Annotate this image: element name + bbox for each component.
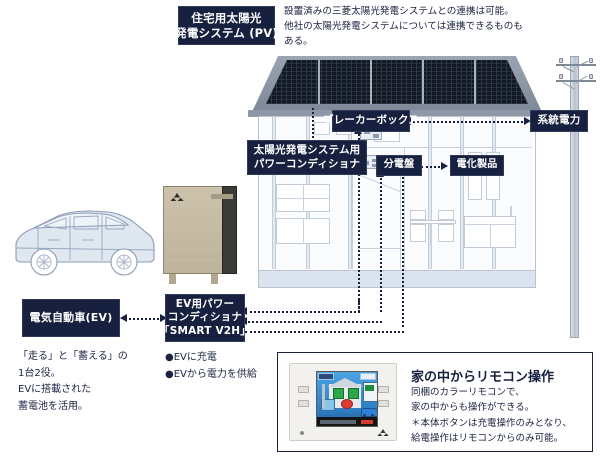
diagram-canvas: 住宅用太陽光 発電システム (PV) 設置済みの三菱太陽光発電システムとの連携は…	[0, 0, 600, 456]
v2h-power-conditioner-unit	[163, 186, 238, 286]
remote-button-right-bottom[interactable]	[378, 400, 389, 407]
remote-lcd-screen	[316, 371, 378, 427]
color-remote-controller	[289, 363, 397, 441]
connector-v2h-riser	[402, 170, 404, 327]
interior-partition	[352, 169, 353, 269]
label-pv-system-line2: 発電システム (PV)	[175, 26, 278, 40]
pole-insulator	[589, 74, 593, 79]
pole-insulator	[559, 58, 563, 63]
label-v2h-power-conditioner: EV用パワー コンディショナ 「SMART V2H」	[165, 294, 245, 342]
utility-pole	[556, 48, 596, 338]
counter-divider	[490, 224, 491, 248]
connector-v2h-row3	[245, 331, 404, 333]
label-breaker-box: ブレーカーボックス	[332, 110, 410, 132]
panel-seam	[474, 60, 476, 104]
v2h-bullets: ●EVに充電 ●EVから電力を供給	[165, 349, 285, 383]
note-pv-compatibility: 設置済みの三菱太陽光発電システムとの連携は可能。 他社の太陽光発電システムについ…	[284, 5, 596, 50]
label-v2h-line1: EV用パワー	[176, 298, 235, 311]
remote-body-text: 同梱のカラーリモコンで、 家の中からも操作ができる。	[411, 386, 534, 415]
label-electric-vehicle: 電気自動車(EV)	[22, 299, 120, 337]
pole-insulator	[589, 58, 593, 63]
table-leg	[430, 224, 432, 246]
remote-control-callout-card: 家の中からリモコン操作 同梱のカラーリモコンで、 家の中からも操作ができる。 ＊…	[277, 352, 593, 452]
foundation-band	[258, 270, 536, 288]
remote-button-right-top[interactable]	[378, 386, 389, 393]
arrow-left-ev	[120, 314, 127, 322]
remote-button-left-bottom[interactable]	[298, 400, 309, 407]
label-pv-power-conditioner: 太陽光発電システム用 パワーコンディショナ	[247, 140, 367, 175]
v2h-nameplate	[211, 194, 233, 199]
v2h-vent-line	[167, 236, 219, 237]
label-grid-power-text: 系統電力	[538, 114, 581, 127]
v2h-vent-line	[167, 248, 219, 249]
pole-shaft	[570, 56, 579, 338]
chair	[410, 210, 426, 220]
connector-ev-to-v2h	[125, 318, 163, 320]
mitsubishi-logo-icon	[376, 429, 390, 436]
label-breaker-box-text: ブレーカーボックス	[323, 114, 419, 127]
chair	[438, 210, 454, 220]
label-v2h-line3: 「SMART V2H」	[159, 325, 251, 338]
cabinet-divider	[303, 218, 304, 244]
chair-back	[410, 224, 426, 242]
v2h-leg	[211, 274, 218, 284]
connector-v2h-row1	[245, 311, 360, 313]
electric-vehicle-illustration	[8, 196, 158, 282]
label-pv-system-line1: 住宅用太陽光	[191, 11, 261, 25]
shelf-divider	[303, 184, 304, 212]
v2h-side-panel	[222, 186, 237, 274]
label-v2h-line2: コンディショナ	[168, 311, 242, 324]
connector-v2h-row2	[245, 321, 382, 323]
remote-note-text: ＊本体ボタンは充電操作のみとなり、 給電操作はリモコンからのみ可能。	[411, 417, 572, 446]
remote-heading: 家の中からリモコン操作	[411, 366, 554, 385]
v2h-vent-line	[167, 260, 219, 261]
kitchen-faucet	[510, 206, 512, 216]
label-appliances-text: 電化製品	[457, 159, 498, 172]
panel-seam	[318, 60, 320, 104]
label-appliances: 電化製品	[450, 155, 504, 176]
remote-button-left-top[interactable]	[298, 386, 309, 393]
panel-seam	[370, 60, 372, 104]
solar-panel-array	[266, 60, 528, 104]
interior-partition	[400, 169, 401, 269]
ev-description: 「走る」と「蓄える」の 1台2役。 EVに搭載された 蓄電池を活用。	[18, 349, 168, 415]
label-distribution-board: 分電盤	[376, 155, 422, 176]
label-pv-conditioner-line1: 太陽光発電システム用	[254, 144, 361, 157]
v2h-leg	[169, 274, 176, 284]
v2h-vent-line	[167, 212, 219, 213]
pole-insulator	[559, 74, 563, 79]
connector-to-distribution-board	[380, 173, 382, 312]
mitsubishi-logo-icon	[169, 193, 185, 201]
chair-back	[438, 224, 454, 242]
label-distribution-board-text: 分電盤	[384, 159, 415, 172]
label-ev-text: 電気自動車(EV)	[30, 311, 113, 325]
label-pv-system: 住宅用太陽光 発電システム (PV)	[178, 6, 275, 45]
v2h-vent-line	[167, 224, 219, 225]
wall-column	[428, 117, 432, 269]
label-pv-conditioner-line2: パワーコンディショナ	[254, 158, 360, 171]
power-indicator-icon	[298, 429, 306, 436]
arrow-right-appliances	[441, 162, 448, 170]
connector-breaker-to-grid	[409, 121, 527, 123]
panel-seam	[422, 60, 424, 104]
label-grid-power: 系統電力	[530, 110, 588, 132]
